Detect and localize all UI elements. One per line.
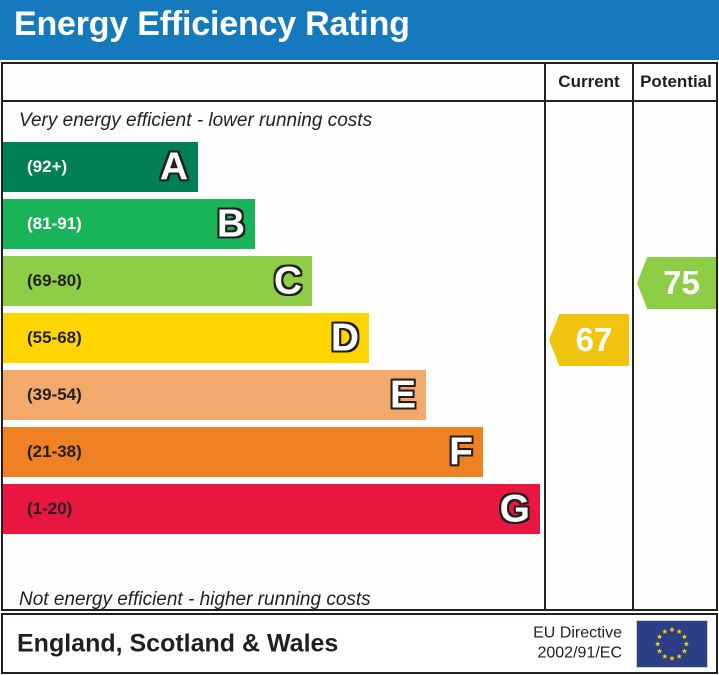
band-range-label: (21-38) — [27, 442, 82, 462]
band-letter-f: F — [449, 433, 473, 472]
energy-efficiency-rating-chart: Energy Efficiency Rating Current Potenti… — [0, 0, 719, 675]
rating-band-d: (55-68)D — [3, 313, 369, 363]
band-letter-c: C — [274, 262, 302, 301]
rating-band-c: (69-80)C — [3, 256, 312, 306]
band-range-label: (81-91) — [27, 214, 82, 234]
column-divider-potential — [632, 102, 634, 609]
rating-band-a: (92+)A — [3, 142, 198, 192]
footer-directive: EU Directive 2002/91/EC — [533, 623, 622, 664]
band-range-label: (69-80) — [27, 271, 82, 291]
band-letter-a: A — [160, 148, 188, 187]
column-header-current: Current — [544, 64, 632, 100]
rating-band-b: (81-91)B — [3, 199, 255, 249]
caption-inefficient: Not energy efficient - higher running co… — [19, 589, 371, 611]
footer-directive-line2: 2002/91/EC — [533, 644, 622, 664]
chart-body: Current Potential Very energy efficient … — [1, 62, 718, 611]
band-letter-b: B — [217, 205, 245, 244]
caption-efficient: Very energy efficient - lower running co… — [19, 110, 372, 132]
band-range-label: (92+) — [27, 157, 67, 177]
rating-band-f: (21-38)F — [3, 427, 483, 477]
band-range-label: (1-20) — [27, 499, 72, 519]
rating-arrow-current: 67 — [549, 314, 629, 366]
column-header-row: Current Potential — [3, 64, 716, 102]
band-range-label: (55-68) — [27, 328, 82, 348]
page-title: Energy Efficiency Rating — [14, 5, 410, 44]
rating-arrow-potential: 75 — [637, 257, 716, 309]
column-header-potential: Potential — [632, 64, 718, 100]
band-letter-d: D — [331, 319, 359, 358]
band-range-label: (39-54) — [27, 385, 82, 405]
rating-band-g: (1-20)G — [3, 484, 540, 534]
footer-directive-line1: EU Directive — [533, 623, 622, 643]
band-letter-e: E — [390, 376, 416, 415]
eu-flag-icon — [636, 620, 708, 668]
rating-value-potential: 75 — [653, 264, 700, 302]
rating-band-e: (39-54)E — [3, 370, 426, 420]
column-divider-current — [544, 102, 546, 609]
chart-footer: England, Scotland & Wales EU Directive 2… — [1, 613, 718, 674]
band-letter-g: G — [500, 490, 530, 529]
rating-value-current: 67 — [566, 321, 613, 359]
chart-title-bar: Energy Efficiency Rating — [0, 0, 719, 60]
footer-region-label: England, Scotland & Wales — [17, 629, 338, 658]
